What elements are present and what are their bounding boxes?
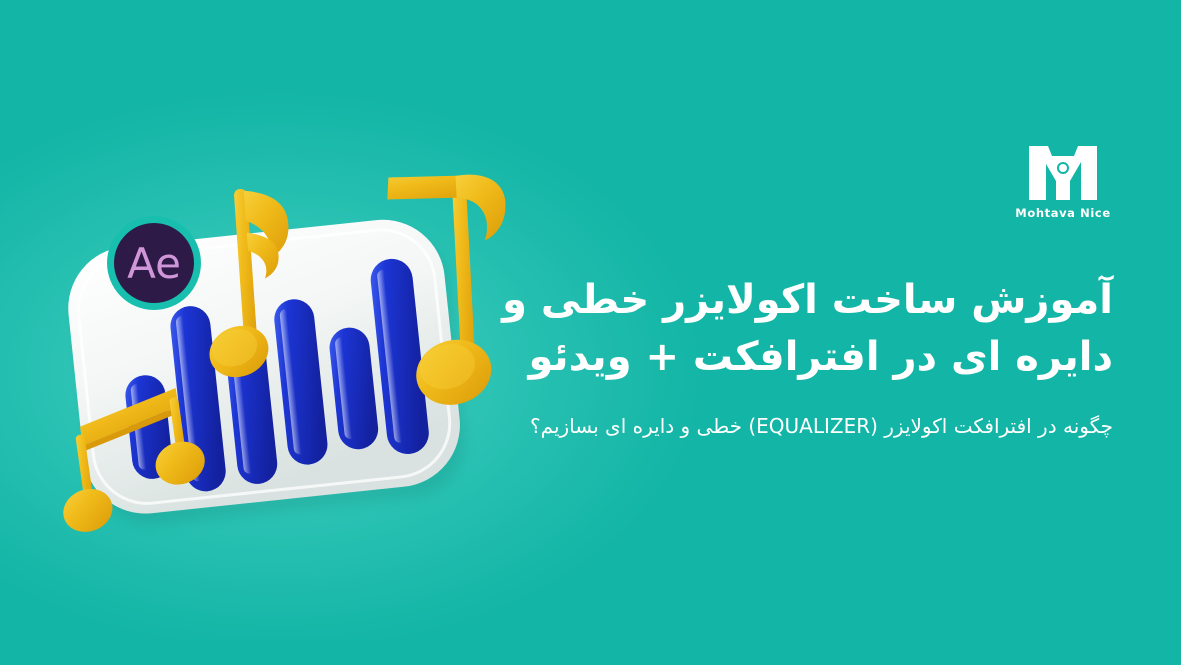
headline-line-1: آموزش ساخت اکولایزر خطی و	[493, 272, 1113, 329]
promo-banner: Ae Mohtava Nice آموزش ساخت اکولایزر خطی …	[0, 0, 1181, 665]
copy-block: آموزش ساخت اکولایزر خطی و دایره ای در اف…	[493, 272, 1113, 440]
equalizer-illustration: Ae	[58, 150, 528, 530]
brand-logo[interactable]: Mohtava Nice	[1007, 140, 1119, 220]
page-title: آموزش ساخت اکولایزر خطی و دایره ای در اف…	[493, 272, 1113, 386]
headline-line-2: دایره ای در افترافکت + ویدئو	[493, 329, 1113, 386]
m-pen-nib-logo-icon	[1026, 140, 1100, 202]
after-effects-badge-label: Ae	[127, 239, 181, 288]
after-effects-badge: Ae	[107, 216, 201, 310]
subtitle: چگونه در افترافکت اکولایزر (EQUALIZER) خ…	[493, 412, 1113, 440]
brand-name: Mohtava Nice	[1015, 206, 1110, 220]
